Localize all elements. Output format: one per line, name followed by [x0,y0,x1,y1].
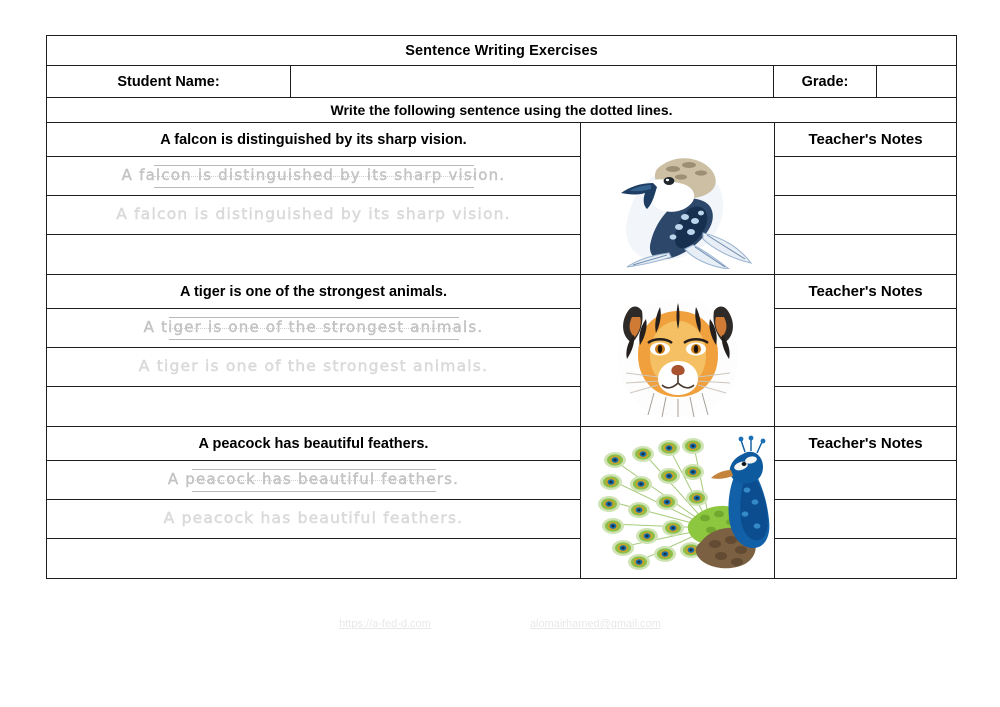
trace-text: A tiger is one of the strongest animals. [47,318,580,336]
teacher-notes-line[interactable] [775,196,957,235]
blank-writing-line[interactable] [47,235,581,275]
teacher-notes-line[interactable] [775,309,957,348]
tiger-icon [592,281,764,421]
ghost-text: A peacock has beautiful feathers. [47,509,580,527]
ghost-line-cell[interactable]: A peacock has beautiful feathers. [47,500,581,539]
teacher-notes-line[interactable] [775,348,957,387]
teacher-notes-heading: Teacher's Notes [775,123,957,157]
blank-row [47,235,957,275]
blank-writing-line[interactable] [47,387,581,427]
blank-row [47,387,957,427]
page-title: Sentence Writing Exercises [47,36,957,66]
grade-label: Grade: [774,66,877,98]
student-info-row: Student Name: Grade: [47,66,957,98]
sentence-prompt: A tiger is one of the strongest animals. [47,275,581,309]
falcon-icon [581,129,781,269]
title-row: Sentence Writing Exercises [47,36,957,66]
website-link[interactable]: https://a-fed-d.com [339,618,431,630]
exercise-header-row: A peacock has beautiful feathers. [47,427,957,461]
teacher-notes-line[interactable] [775,500,957,539]
blank-writing-line[interactable] [47,539,581,579]
ghost-row: A peacock has beautiful feathers. [47,500,957,539]
peacock-icon [581,432,786,574]
trace-text: A falcon is distinguished by its sharp v… [47,166,580,184]
sentence-prompt: A falcon is distinguished by its sharp v… [47,123,581,157]
trace-row: A peacock has beautiful feathers. [47,461,957,500]
worksheet-table: Sentence Writing Exercises Student Name:… [46,35,957,579]
sentence-prompt: A peacock has beautiful feathers. [47,427,581,461]
trace-line-cell[interactable]: A tiger is one of the strongest animals. [47,309,581,348]
student-name-field[interactable] [291,66,774,98]
blank-row [47,539,957,579]
teacher-notes-line[interactable] [775,387,957,427]
instruction-row: Write the following sentence using the d… [47,98,957,123]
exercise-header-row: A falcon is distinguished by its sharp v… [47,123,957,157]
teacher-notes-heading: Teacher's Notes [775,275,957,309]
ghost-line-cell[interactable]: A tiger is one of the strongest animals. [47,348,581,387]
trace-text: A peacock has beautiful feathers. [47,470,580,488]
grade-field[interactable] [877,66,957,98]
falcon-illustration [581,123,775,275]
teacher-notes-line[interactable] [775,539,957,579]
peacock-illustration [581,427,775,579]
teacher-notes-line[interactable] [775,157,957,196]
ghost-line-cell[interactable]: A falcon is distinguished by its sharp v… [47,196,581,235]
exercise-header-row: A tiger is one of the strongest animals. [47,275,957,309]
footer: https://a-fed-d.com alomairhamed@gmail.c… [0,618,1000,630]
trace-line-cell[interactable]: A peacock has beautiful feathers. [47,461,581,500]
trace-row: A falcon is distinguished by its sharp v… [47,157,957,196]
trace-line-cell[interactable]: A falcon is distinguished by its sharp v… [47,157,581,196]
teacher-notes-heading: Teacher's Notes [775,427,957,461]
ghost-text: A tiger is one of the strongest animals. [47,357,580,375]
tiger-illustration [581,275,775,427]
ghost-row: A tiger is one of the strongest animals. [47,348,957,387]
instruction-text: Write the following sentence using the d… [47,98,957,123]
teacher-notes-line[interactable] [775,461,957,500]
student-name-label: Student Name: [47,66,291,98]
trace-row: A tiger is one of the strongest animals. [47,309,957,348]
teacher-notes-line[interactable] [775,235,957,275]
ghost-row: A falcon is distinguished by its sharp v… [47,196,957,235]
email-link[interactable]: alomairhamed@gmail.com [530,618,661,630]
ghost-text: A falcon is distinguished by its sharp v… [47,205,580,223]
